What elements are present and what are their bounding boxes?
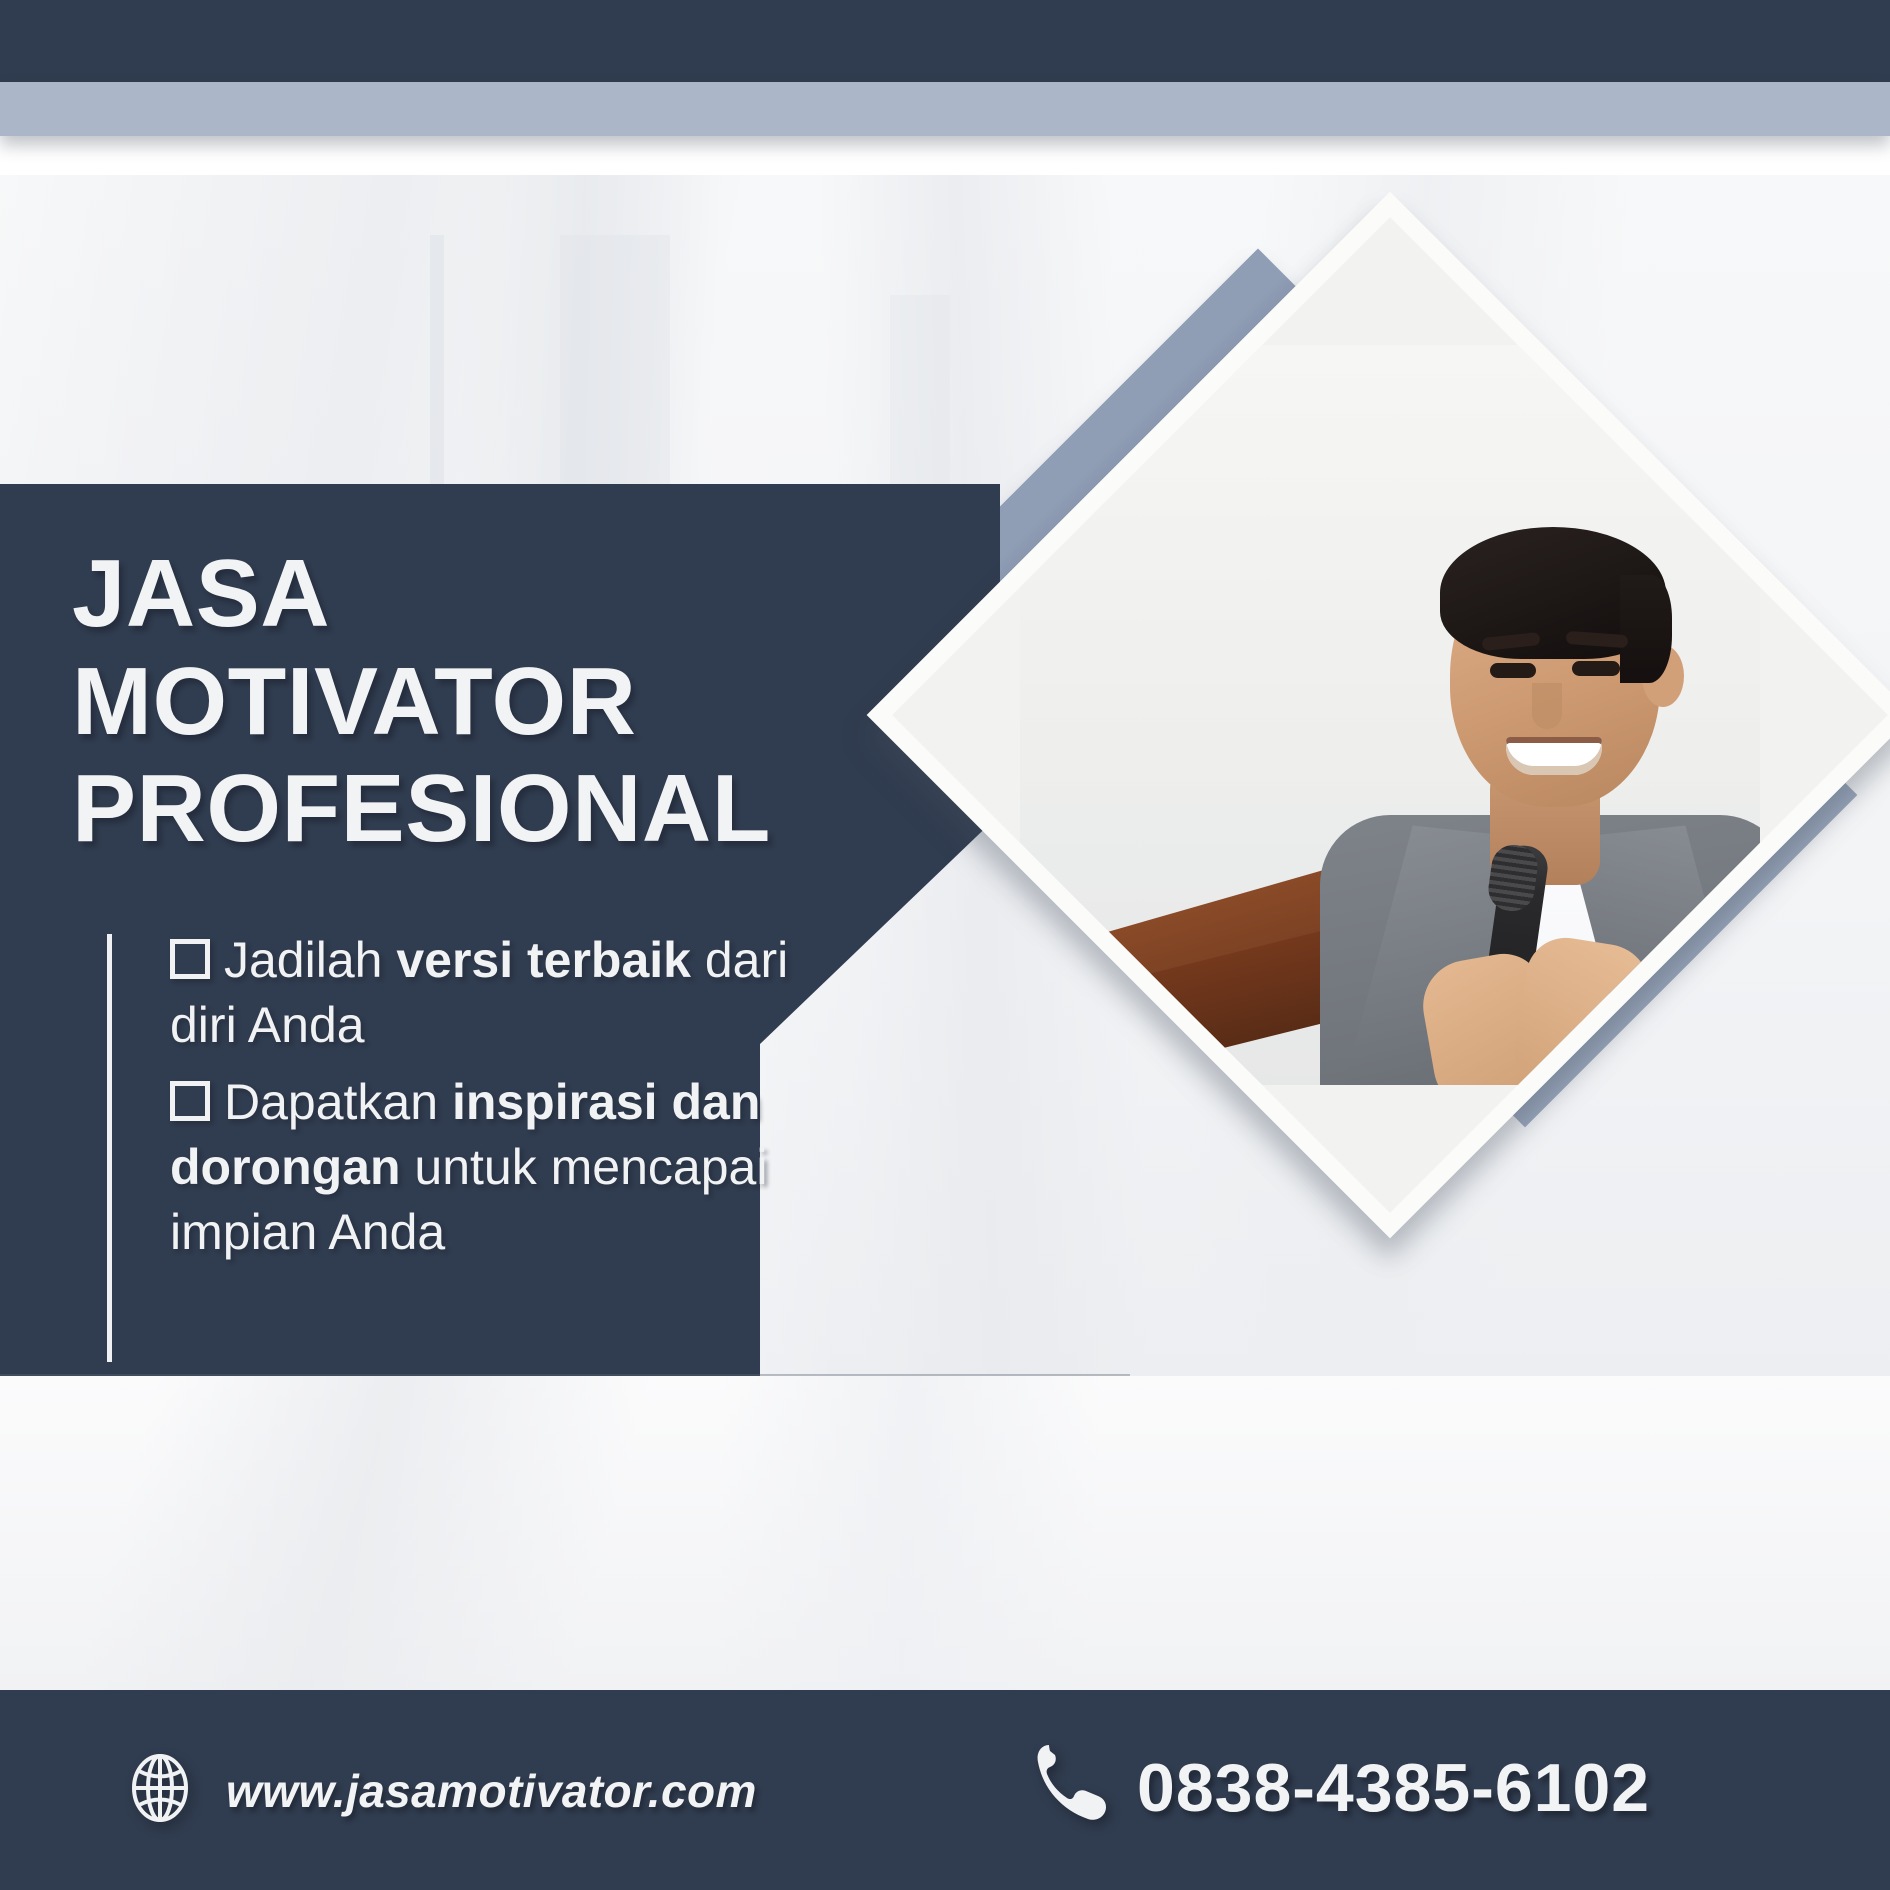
headline-line-1: JASA xyxy=(72,540,972,648)
top-bar-dark xyxy=(0,0,1890,82)
photo-nose xyxy=(1532,683,1562,729)
bullet-text-1a: Jadilah xyxy=(224,932,396,988)
photo-hair-side xyxy=(1620,575,1672,683)
phone-icon xyxy=(1035,1742,1107,1833)
poster-canvas: JASA MOTIVATOR PROFESIONAL Jadilah versi… xyxy=(0,0,1890,1890)
photo-eye-right xyxy=(1572,661,1620,676)
headline-line-2: MOTIVATOR xyxy=(72,648,972,756)
bullet-text-2a: Dapatkan xyxy=(224,1074,452,1130)
phone-contact[interactable]: 0838-4385-6102 xyxy=(1035,1742,1650,1833)
website-url[interactable]: www.jasamotivator.com xyxy=(226,1764,757,1818)
background-floor xyxy=(0,1376,1890,1696)
bullet-text-1b: versi terbaik xyxy=(396,932,691,988)
checkbox-square-icon xyxy=(170,1081,210,1121)
benefit-list: Jadilah versi terbaik dari diri Anda Dap… xyxy=(170,928,790,1277)
speaker-photo xyxy=(1020,345,1760,1085)
list-item: Dapatkan inspirasi dan dorongan untuk me… xyxy=(170,1070,790,1265)
photo-smile xyxy=(1506,737,1602,775)
photo-eye-left xyxy=(1490,663,1536,678)
page-title: JASA MOTIVATOR PROFESIONAL xyxy=(72,540,972,863)
bullet-accent-rule xyxy=(107,934,112,1362)
phone-number[interactable]: 0838-4385-6102 xyxy=(1137,1749,1650,1827)
top-bar-light xyxy=(0,82,1890,136)
globe-icon xyxy=(128,1752,192,1829)
checkbox-square-icon xyxy=(170,939,210,979)
website-contact[interactable]: www.jasamotivator.com xyxy=(128,1752,757,1829)
headline-line-3: PROFESIONAL xyxy=(72,755,972,863)
list-item: Jadilah versi terbaik dari diri Anda xyxy=(170,928,790,1058)
